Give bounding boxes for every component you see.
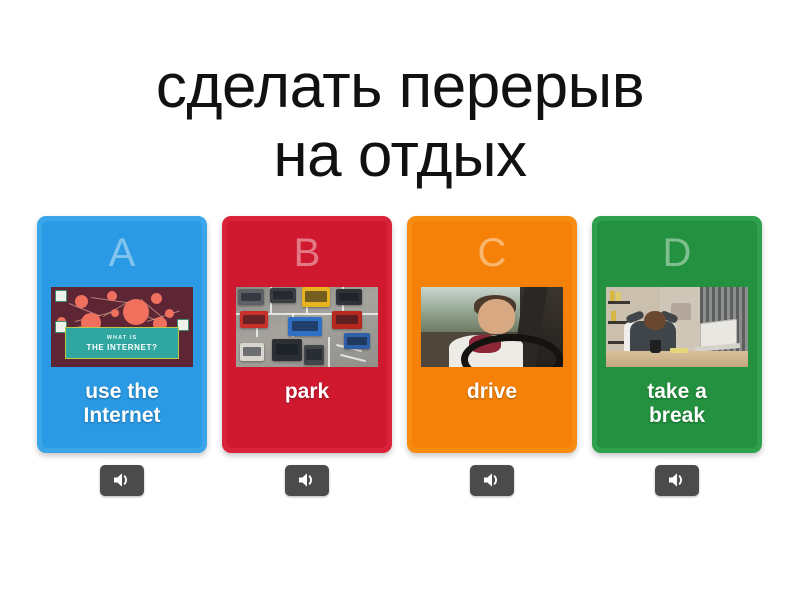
internet-banner-line1: WHAT IS — [107, 335, 138, 341]
answer-card-a-inner: A — [42, 221, 202, 448]
audio-button-d[interactable] — [655, 465, 699, 496]
what-is-the-internet-graphic: WHAT IS THE INTERNET? — [51, 287, 193, 367]
answer-label-c: drive — [416, 380, 568, 404]
answer-label-d: take a break — [601, 380, 753, 427]
answer-card-b-inner: B — [227, 221, 387, 448]
answer-options-row: A — [37, 216, 763, 496]
answer-option-b: B — [222, 216, 392, 496]
answer-option-d: D — [592, 216, 762, 496]
internet-banner-line2: THE INTERNET? — [87, 343, 158, 352]
internet-banner: WHAT IS THE INTERNET? — [65, 327, 179, 359]
speaker-icon — [667, 471, 687, 489]
aerial-parking-lot-photo — [236, 287, 378, 367]
answer-letter-d: D — [663, 233, 692, 273]
answer-image-d — [606, 287, 748, 367]
audio-button-c[interactable] — [470, 465, 514, 496]
answer-image-a: WHAT IS THE INTERNET? — [51, 287, 193, 367]
audio-button-b[interactable] — [285, 465, 329, 496]
answer-option-c: C drive — [407, 216, 577, 496]
answer-letter-c: C — [478, 233, 507, 273]
answer-option-a: A — [37, 216, 207, 496]
answer-image-b — [236, 287, 378, 367]
audio-button-a[interactable] — [100, 465, 144, 496]
answer-card-b[interactable]: B — [222, 216, 392, 453]
answer-card-c[interactable]: C drive — [407, 216, 577, 453]
answer-image-c — [421, 287, 563, 367]
answer-card-c-inner: C drive — [412, 221, 572, 448]
answer-letter-a: A — [109, 233, 136, 273]
speaker-icon — [482, 471, 502, 489]
man-relaxing-at-desk-photo — [606, 287, 748, 367]
answer-card-d-inner: D — [597, 221, 757, 448]
answer-card-a[interactable]: A — [37, 216, 207, 453]
speaker-icon — [297, 471, 317, 489]
answer-card-d[interactable]: D — [592, 216, 762, 453]
man-driving-car-photo — [421, 287, 563, 367]
answer-label-a: use the Internet — [46, 380, 198, 427]
question-text: сделать перерыв на отдых — [0, 52, 800, 191]
speaker-icon — [112, 471, 132, 489]
answer-letter-b: B — [294, 233, 321, 273]
answer-label-b: park — [231, 380, 383, 404]
